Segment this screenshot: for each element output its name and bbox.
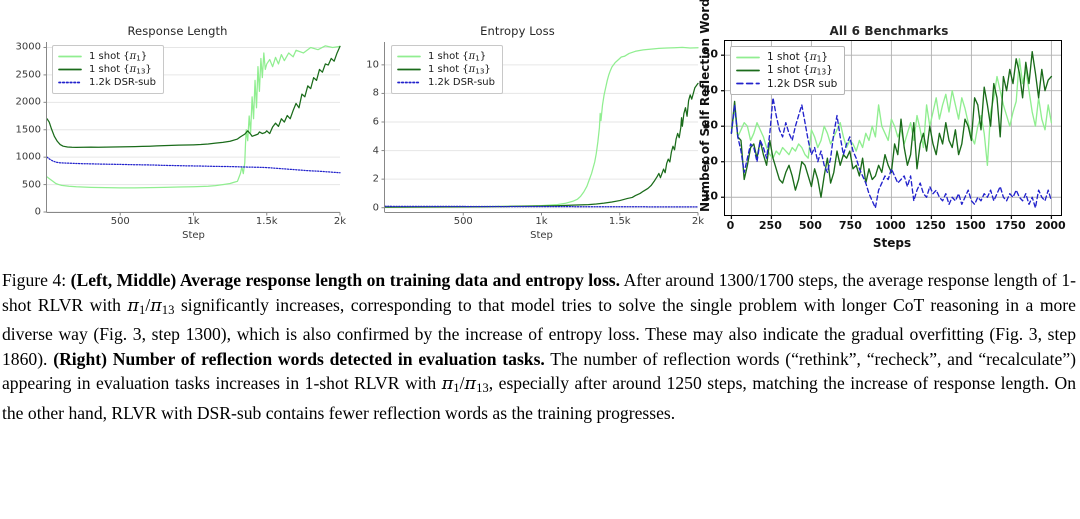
chart-panel-response-length: Response Length Step 1 shot {π1}1 shot {… [0, 0, 355, 258]
legend-line-icon [397, 77, 421, 88]
legend-response-length: 1 shot {π1}1 shot {π13}1.2k DSR-sub [52, 45, 164, 94]
y-tick-label: 1000 [16, 152, 41, 163]
y-tick-label: 2 [373, 174, 379, 185]
x-axis-label-all-6-benchmarks: Steps [724, 236, 1060, 250]
x-tick-label: 500 [111, 216, 130, 227]
x-tick-label: 750 [839, 219, 862, 232]
x-tick-label: 1.5k [609, 216, 631, 227]
legend-line-icon [736, 65, 760, 76]
x-tick-label: 2k [334, 216, 346, 227]
y-tick-label: 4 [373, 145, 379, 156]
y-tick-label: 10 [366, 59, 379, 70]
legend-line-icon [736, 78, 760, 89]
legend-entropy-loss: 1 shot {π1}1 shot {π13}1.2k DSR-sub [391, 45, 503, 94]
caption-bold-run: (Left, Middle) Average response length o… [71, 270, 620, 290]
legend-item[interactable]: 1.2k DSR-sub [397, 76, 495, 89]
chart-title-response-length: Response Length [0, 24, 355, 38]
figure-caption: Figure 4: (Left, Middle) Average respons… [0, 268, 1080, 425]
x-tick-label: 0 [727, 219, 735, 232]
chart-panel-entropy-loss: Entropy Loss Step 1 shot {π1}1 shot {π13… [355, 0, 680, 258]
series-line [385, 83, 698, 207]
x-tick-label: 500 [799, 219, 822, 232]
x-tick-label: 1250 [915, 219, 946, 232]
x-tick-label: 250 [759, 219, 782, 232]
caption-text: Figure 4: (Left, Middle) Average respons… [0, 268, 1080, 425]
y-tick-label: 40 [703, 83, 718, 96]
figure-page: Response Length Step 1 shot {π1}1 shot {… [0, 0, 1080, 519]
y-tick-label: 2000 [16, 97, 41, 108]
y-tick-label: 30 [703, 119, 718, 132]
legend-item[interactable]: 1 shot {π13} [397, 63, 495, 76]
y-tick-label: 1500 [16, 124, 41, 135]
y-tick-label: 0 [373, 202, 379, 213]
x-axis-label-response-length: Step [47, 230, 340, 241]
legend-line-icon [58, 64, 82, 75]
x-tick-label: 1k [535, 216, 547, 227]
legend-item[interactable]: 1 shot {π1} [397, 50, 495, 63]
y-tick-label: 2500 [16, 69, 41, 80]
legend-item[interactable]: 1 shot {π13} [736, 64, 837, 77]
legend-label: 1 shot {π1} [428, 51, 486, 63]
legend-label: 1 shot {π13} [89, 64, 152, 76]
legend-line-icon [58, 77, 82, 88]
legend-item[interactable]: 1.2k DSR sub [736, 77, 837, 90]
x-tick-label: 1000 [875, 219, 906, 232]
chart-title-all-6-benchmarks: All 6 Benchmarks [698, 24, 1080, 38]
caption-bold-run: (Right) Number of reflection words detec… [53, 349, 545, 369]
y-tick-label: 50 [703, 48, 718, 61]
legend-label: 1 shot {π1} [89, 51, 147, 63]
y-tick-label: 6 [373, 117, 379, 128]
series-line [47, 157, 340, 173]
y-tick-label: 10 [703, 190, 718, 203]
chart-panel-all-6-benchmarks: All 6 Benchmarks Number of Self Reflecti… [680, 0, 1080, 258]
legend-label: 1.2k DSR-sub [89, 77, 156, 88]
legend-item[interactable]: 1.2k DSR-sub [58, 76, 156, 89]
x-tick-label: 500 [454, 216, 473, 227]
legend-item[interactable]: 1 shot {π1} [58, 50, 156, 63]
legend-item[interactable]: 1 shot {π1} [736, 51, 837, 64]
x-tick-label: 1k [187, 216, 199, 227]
legend-line-icon [736, 52, 760, 63]
chart-title-entropy-loss: Entropy Loss [355, 24, 680, 38]
x-tick-label: 2000 [1035, 219, 1066, 232]
caption-label: Figure 4: [2, 270, 66, 290]
legend-label: 1 shot {π13} [428, 64, 491, 76]
legend-item[interactable]: 1 shot {π13} [58, 63, 156, 76]
legend-all-6-benchmarks: 1 shot {π1}1 shot {π13}1.2k DSR sub [730, 46, 845, 95]
x-tick-label: 1500 [955, 219, 986, 232]
legend-label: 1.2k DSR sub [767, 78, 837, 90]
series-line [385, 206, 698, 207]
x-axis-label-entropy-loss: Step [385, 230, 698, 241]
legend-label: 1 shot {π13} [767, 64, 833, 77]
figure-charts-row: Response Length Step 1 shot {π1}1 shot {… [0, 0, 1080, 258]
legend-line-icon [58, 51, 82, 62]
y-tick-label: 500 [22, 179, 41, 190]
legend-line-icon [397, 64, 421, 75]
legend-label: 1 shot {π1} [767, 51, 828, 64]
x-tick-label: 1.5k [256, 216, 278, 227]
y-tick-label: 0 [35, 207, 41, 218]
legend-line-icon [397, 51, 421, 62]
y-axis-label-all-6-benchmarks: Number of Self Reflection Words [698, 0, 712, 212]
y-tick-label: 3000 [16, 42, 41, 53]
y-tick-label: 8 [373, 88, 379, 99]
x-tick-label: 1750 [995, 219, 1026, 232]
legend-label: 1.2k DSR-sub [428, 77, 495, 88]
y-tick-label: 20 [703, 154, 718, 167]
